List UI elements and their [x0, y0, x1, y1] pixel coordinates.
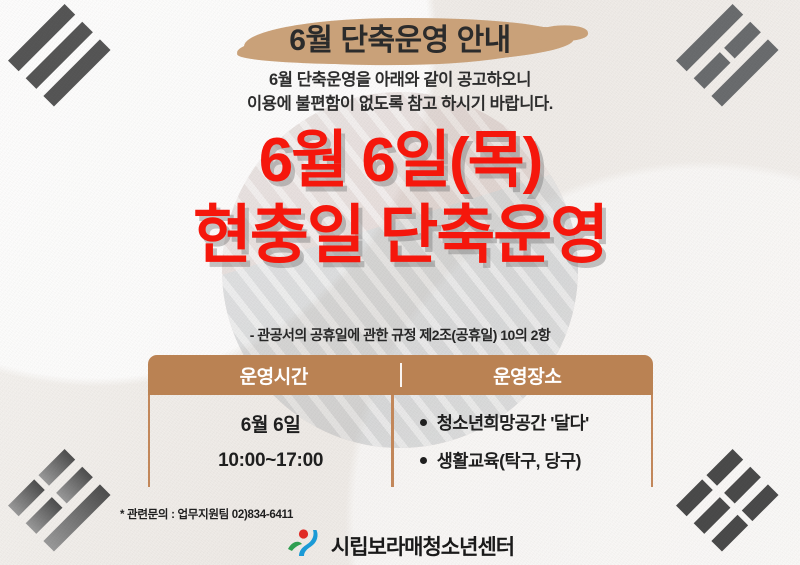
- title-section: 6월 단축운영 안내: [0, 18, 800, 64]
- place-label: 생활교육(탁구, 당구): [437, 448, 581, 473]
- subtitle-line-1: 6월 단축운영을 아래와 같이 공고하오니: [0, 68, 800, 92]
- headline-event: 현충일 단축운영: [0, 198, 800, 272]
- headline-date: 6월 6일(목): [0, 124, 800, 198]
- footer-branding: 시립보라매청소년센터: [0, 528, 800, 563]
- place-item: 청소년희망공간 '달다': [420, 410, 641, 435]
- subtitle-block: 6월 단축운영을 아래와 같이 공고하오니 이용에 불편함이 없도록 참고 하시…: [0, 68, 800, 116]
- place-label: 청소년희망공간 '달다': [437, 410, 589, 435]
- poster-content: 6월 단축운영 안내 6월 단축운영을 아래와 같이 공고하오니 이용에 불편함…: [0, 0, 800, 565]
- legal-reference-note: - 관공서의 공휴일에 관한 규정 제2조(공휴일) 10의 2항: [0, 325, 800, 345]
- bullet-icon: [420, 457, 427, 464]
- table-header-places: 운영장소: [402, 355, 654, 395]
- headline-block: 6월 6일(목) 현충일 단축운영: [0, 124, 800, 272]
- contact-info: * 관련문의 : 업무지원팀 02)834-6411: [120, 506, 293, 522]
- subtitle-line-2: 이용에 불편함이 없도록 참고 하시기 바랍니다.: [0, 92, 800, 116]
- table-header-row: 운영시간 운영장소: [148, 355, 653, 395]
- hours-date: 6월 6일: [241, 410, 301, 437]
- places-cell: 청소년희망공간 '달다' 생활교육(탁구, 당구): [394, 395, 651, 487]
- bullet-icon: [420, 419, 427, 426]
- poster-canvas: 6월 단축운영 안내 6월 단축운영을 아래와 같이 공고하오니 이용에 불편함…: [0, 0, 800, 565]
- organization-name: 시립보라매청소년센터: [331, 531, 514, 561]
- operation-info-table: 운영시간 운영장소 6월 6일 10:00~17:00 청소년희망공간 '달다': [148, 355, 653, 487]
- place-item: 생활교육(탁구, 당구): [420, 448, 641, 473]
- center-logo-icon: [286, 528, 320, 563]
- page-title: 6월 단축운영 안내: [0, 18, 800, 64]
- table-body-row: 6월 6일 10:00~17:00 청소년희망공간 '달다' 생활교육(탁구, …: [148, 395, 653, 487]
- hours-cell: 6월 6일 10:00~17:00: [150, 395, 391, 487]
- table-header-hours: 운영시간: [148, 355, 400, 395]
- hours-range: 10:00~17:00: [218, 450, 323, 472]
